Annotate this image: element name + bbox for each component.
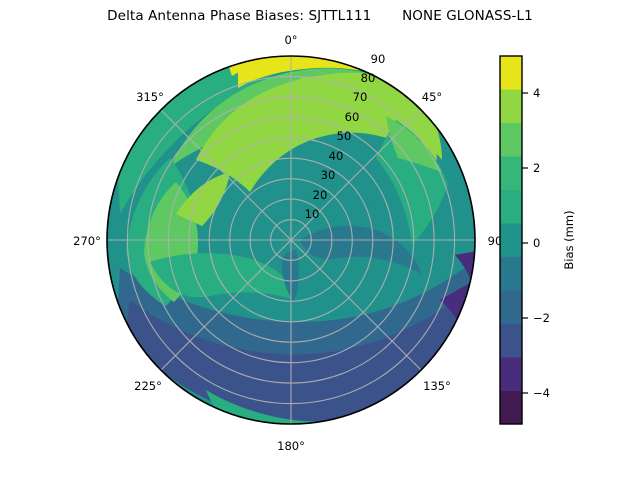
azimuth-label-0: 0° xyxy=(284,33,297,47)
colorbar-band-8 xyxy=(500,324,522,358)
colorbar-tick-label-neg4: −4 xyxy=(533,386,550,400)
radial-label-80: 80 xyxy=(361,71,376,85)
radial-label-10: 10 xyxy=(305,207,320,221)
colorbar-band-10 xyxy=(500,391,522,424)
colorbar: 4 2 0 −2 −4 Bias (mm) xyxy=(500,56,576,424)
radial-label-30: 30 xyxy=(321,168,336,182)
figure-canvas: Delta Antenna Phase Biases: SJTTL111 NON… xyxy=(0,0,640,480)
azimuth-label-315: 315° xyxy=(136,90,164,104)
polar-plot: 0° 45° 90 135° 180° 225° 270° 315° 10 20… xyxy=(0,0,640,480)
contour-band-neg4 xyxy=(440,276,482,420)
polar-grid xyxy=(107,56,475,424)
azimuth-label-135: 135° xyxy=(423,379,451,393)
colorbar-band-5 xyxy=(500,224,522,258)
radial-label-50: 50 xyxy=(337,129,352,143)
colorbar-tick-label-0: 0 xyxy=(533,236,540,250)
colorbar-band-7 xyxy=(500,291,522,325)
colorbar-tick-label-2: 2 xyxy=(533,161,540,175)
radial-label-60: 60 xyxy=(345,110,360,124)
radial-label-40: 40 xyxy=(329,149,344,163)
colorbar-band-0 xyxy=(500,56,522,90)
figure-title: Delta Antenna Phase Biases: SJTTL111 NON… xyxy=(0,8,640,24)
azimuth-label-45: 45° xyxy=(422,90,442,104)
colorbar-axis-title: Bias (mm) xyxy=(562,210,576,269)
azimuth-label-225: 225° xyxy=(134,379,162,393)
colorbar-band-4 xyxy=(500,190,522,224)
colorbar-band-1 xyxy=(500,90,522,124)
azimuth-label-270: 270° xyxy=(73,234,101,248)
colorbar-band-3 xyxy=(500,157,522,191)
azimuth-label-180: 180° xyxy=(277,439,305,453)
colorbar-band-2 xyxy=(500,123,522,157)
colorbar-band-6 xyxy=(500,257,522,291)
radial-label-70: 70 xyxy=(353,90,368,104)
colorbar-tick-label-4: 4 xyxy=(533,86,540,100)
radial-label-20: 20 xyxy=(313,188,328,202)
radial-label-90: 90 xyxy=(371,52,386,66)
colorbar-tick-label-neg2: −2 xyxy=(533,311,550,325)
colorbar-band-9 xyxy=(500,358,522,392)
